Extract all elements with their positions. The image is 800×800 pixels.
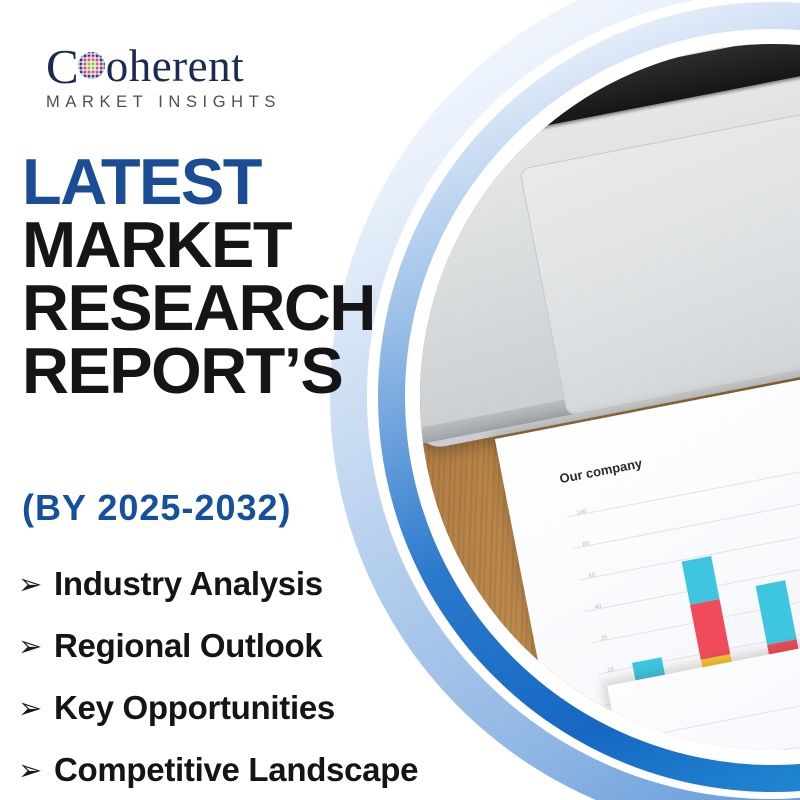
poster-canvas: V B N ⌘ command option ⌘ command Our com… [0, 0, 800, 800]
list-item-label: Regional Outlook [54, 627, 322, 665]
key-label: command [433, 99, 466, 112]
globe-checkered-icon [78, 52, 105, 79]
arrow-bullet-icon: ➢ [18, 632, 54, 661]
list-item: ➢ Industry Analysis [18, 553, 538, 615]
arrow-bullet-icon: ➢ [18, 694, 54, 723]
logo-wordmark-text: oherent [106, 44, 244, 89]
logo-tagline: MARKET INSIGHTS [46, 93, 346, 112]
headline-line-1: LATEST [22, 150, 442, 213]
y-tick: 80 [582, 541, 590, 548]
page-title: LATEST MARKET RESEARCH REPORT’S [22, 150, 442, 402]
list-item: ➢ Competitive Landscape [18, 739, 538, 800]
headline-line-2: MARKET [22, 213, 442, 276]
y-tick: 10 [607, 667, 615, 674]
brand-logo: C oherent MARKET INSIGHTS [46, 44, 346, 112]
year-range-subtitle: (BY 2025-2032) [22, 487, 292, 529]
y-tick: 40 [594, 604, 602, 611]
list-item-label: Key Opportunities [54, 689, 335, 727]
y-tick: 100 [576, 509, 587, 517]
chart-title: Our company [558, 456, 643, 487]
command-symbol-icon: ⌘ [441, 86, 453, 99]
arrow-bullet-icon: ➢ [18, 570, 54, 599]
list-item: ➢ Key Opportunities [18, 677, 538, 739]
arrow-bullet-icon: ➢ [18, 756, 54, 785]
y-tick: 60 [588, 572, 596, 579]
list-item-label: Competitive Landscape [54, 751, 418, 789]
key-command-left: ⌘ command [420, 67, 478, 124]
logo-letter-c: C [46, 42, 78, 91]
logo-wordmark: C oherent [46, 44, 346, 88]
feature-list: ➢ Industry Analysis ➢ Regional Outlook ➢… [18, 553, 538, 800]
list-item: ➢ Regional Outlook [18, 615, 538, 677]
y-tick: 20 [600, 635, 608, 642]
list-item-label: Industry Analysis [54, 565, 323, 603]
headline-line-3: RESEARCH [22, 276, 442, 339]
headline-line-4: REPORT’S [22, 339, 442, 402]
